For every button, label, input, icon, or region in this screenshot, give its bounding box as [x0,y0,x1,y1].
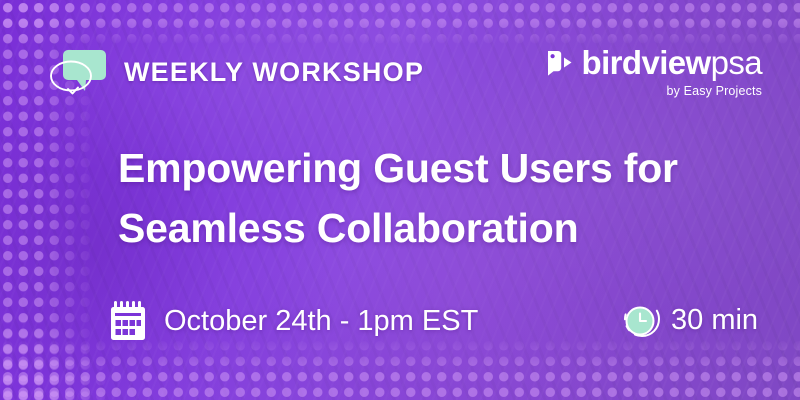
banner-content: WEEKLY WORKSHOP birdviewpsa by Easy Proj… [0,0,800,400]
event-duration-label: 30 min [671,304,758,337]
logo-wordmark: birdviewpsa [582,46,762,79]
clock-icon [622,300,662,340]
calendar-icon [108,300,148,342]
eyebrow-row: WEEKLY WORKSHOP [48,48,424,96]
eyebrow-label: WEEKLY WORKSHOP [124,57,424,88]
logo-wordmark-row: birdviewpsa [545,46,762,79]
page-title: Empowering Guest Users for Seamless Coll… [118,138,758,259]
event-duration-row: 30 min [622,300,758,340]
webinar-promo-banner: WEEKLY WORKSHOP birdviewpsa by Easy Proj… [0,0,800,400]
logo-brand-light: psa [711,44,762,81]
brand-logo: birdviewpsa by Easy Projects [545,46,762,98]
headline-line-1: Empowering Guest Users for [118,138,758,198]
logo-brand-bold: birdview [582,44,711,81]
birdview-logo-mark [545,48,575,78]
speech-bubbles-icon [48,47,110,97]
event-date-label: October 24th - 1pm EST [164,305,478,338]
headline-line-2: Seamless Collaboration [118,198,758,258]
event-date-row: October 24th - 1pm EST [108,300,478,342]
logo-tagline: by Easy Projects [545,84,762,98]
